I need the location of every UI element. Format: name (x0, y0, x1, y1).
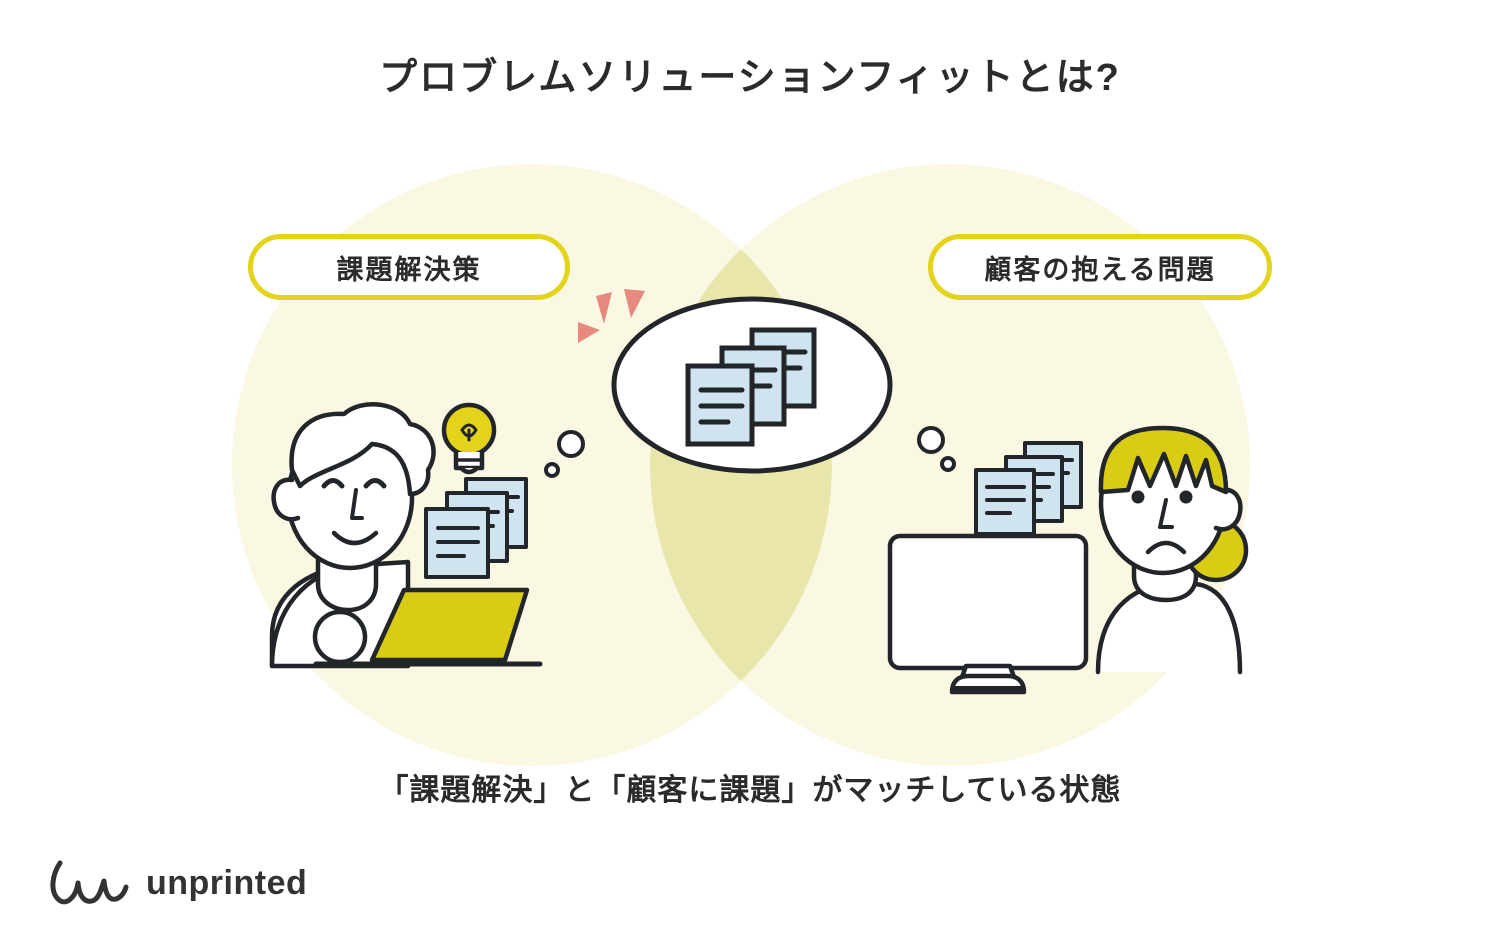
thought-bubble (919, 428, 943, 452)
thought-bubble (546, 464, 558, 476)
document-cards-left (426, 479, 526, 577)
document-cards-right (976, 443, 1081, 534)
slide-canvas: プロブレムソリューションフィットとは? (0, 0, 1500, 938)
venn-label-right-text: 顧客の抱える問題 (984, 248, 1215, 287)
un-cursive-mark-icon (46, 855, 132, 911)
brand-logo-text: unprinted (146, 864, 307, 903)
sparkle-icon (578, 289, 645, 343)
venn-label-left[interactable]: 課題解決策 (248, 234, 570, 300)
venn-label-left-text: 課題解決策 (337, 248, 482, 287)
thought-bubble (942, 458, 954, 470)
lightbulb-icon (444, 405, 494, 472)
venn-label-right[interactable]: 顧客の抱える問題 (928, 234, 1272, 300)
caption-text: 「課題解決」と「顧客に課題」がマッチしている状態 (0, 765, 1500, 809)
monitor-illustration (890, 536, 1086, 692)
center-match-badge (578, 289, 890, 471)
page-title: プロブレムソリューションフィットとは? (0, 46, 1500, 101)
thought-bubble (559, 432, 583, 456)
left-character-illustration (272, 404, 583, 666)
right-character-illustration (890, 428, 1246, 692)
brand-logo[interactable]: unprinted (46, 855, 307, 911)
